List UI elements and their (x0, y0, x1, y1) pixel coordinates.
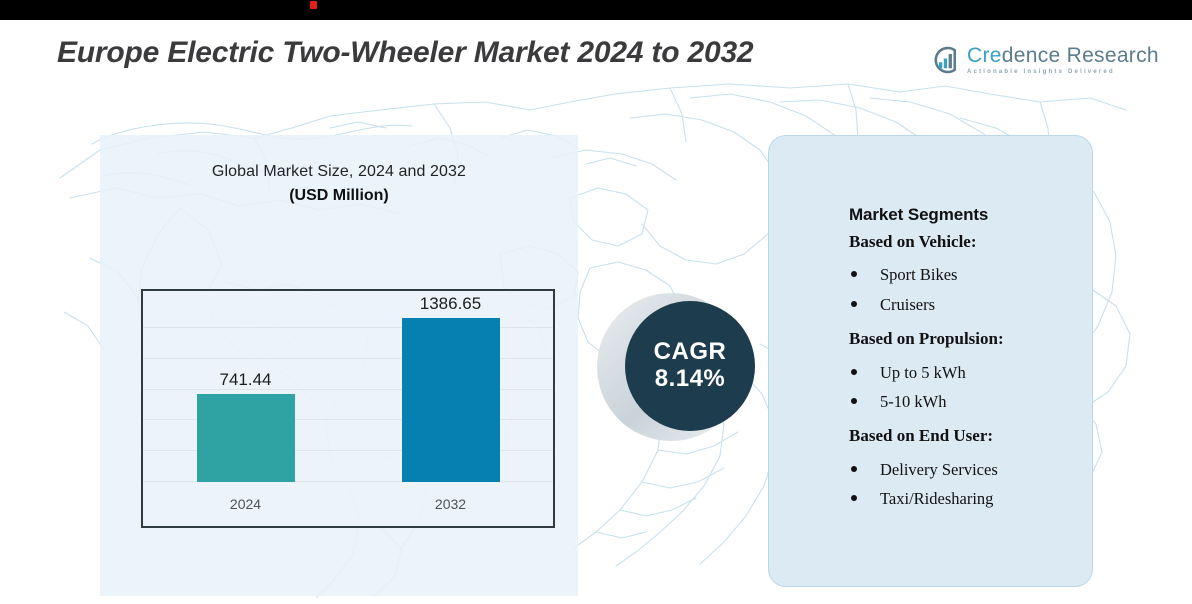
logo-wordmark-rest: dence Research (1002, 44, 1159, 67)
market-segments-panel: Market Segments Based on Vehicle:Sport B… (768, 135, 1093, 587)
chart-bar (197, 394, 295, 482)
segment-item-label: Delivery Services (880, 460, 998, 479)
segment-item-list: Sport BikesCruisers (849, 260, 1094, 319)
chart-value-label: 741.44 (176, 370, 316, 390)
infographic-page: Europe Electric Two-Wheeler Market 2024 … (0, 0, 1192, 604)
segment-item-label: Up to 5 kWh (880, 363, 966, 382)
segment-groups: Based on Vehicle:Sport BikesCruisersBase… (849, 230, 1094, 514)
bar-chart-circle-icon (930, 45, 960, 75)
logo-tagline: Actionable Insights Delivered (967, 69, 1159, 75)
chart-category-label: 2032 (391, 496, 511, 512)
market-segments-title: Market Segments (849, 203, 1094, 228)
bullet-icon (851, 271, 857, 277)
segment-item-list: Up to 5 kWh5-10 kWh (849, 358, 1094, 417)
cagr-badge: CAGR 8.14% (625, 301, 755, 431)
page-title: Europe Electric Two-Wheeler Market 2024 … (57, 36, 753, 70)
chart-heading: Global Market Size, 2024 and 2032 (100, 163, 578, 181)
segment-item: 5-10 kWh (849, 387, 1094, 416)
chart-category-label: 2024 (186, 496, 306, 512)
bullet-icon (851, 495, 857, 501)
segment-item-label: Taxi/Ridesharing (880, 489, 993, 508)
segment-item-list: Delivery ServicesTaxi/Ridesharing (849, 455, 1094, 514)
bullet-icon (851, 301, 857, 307)
segment-item: Delivery Services (849, 455, 1094, 484)
segment-item-label: 5-10 kWh (880, 392, 946, 411)
cagr-value: 8.14% (655, 366, 726, 393)
bar-chart-plot: 741.4420241386.652032 (141, 289, 555, 528)
segment-item: Up to 5 kWh (849, 358, 1094, 387)
bullet-icon (851, 398, 857, 404)
logo-text: Credence Research Actionable Insights De… (967, 45, 1159, 75)
credence-research-logo: Credence Research Actionable Insights De… (930, 45, 1159, 75)
segment-item-label: Cruisers (880, 295, 935, 314)
chart-value-label: 1386.65 (381, 294, 521, 314)
logo-wordmark: Credence Research (967, 45, 1159, 66)
top-black-bar (0, 0, 1192, 20)
segment-group-title: Based on Vehicle: (849, 230, 1094, 255)
chart-panel: Global Market Size, 2024 and 2032 (USD M… (100, 135, 578, 596)
segment-group-title: Based on End User: (849, 424, 1094, 449)
bullet-icon (851, 466, 857, 472)
cagr-label: CAGR (654, 339, 727, 366)
segment-item-label: Sport Bikes (880, 265, 957, 284)
chart-bar (402, 318, 500, 482)
segment-item: Sport Bikes (849, 260, 1094, 289)
logo-wordmark-accent: Cre (967, 44, 1002, 67)
segment-group-title: Based on Propulsion: (849, 327, 1094, 352)
segment-item: Cruisers (849, 290, 1094, 319)
chart-subheading: (USD Million) (100, 187, 578, 205)
bullet-icon (851, 369, 857, 375)
segment-item: Taxi/Ridesharing (849, 484, 1094, 513)
red-dot-marker (310, 1, 317, 9)
market-segments-content: Market Segments Based on Vehicle:Sport B… (849, 203, 1094, 522)
